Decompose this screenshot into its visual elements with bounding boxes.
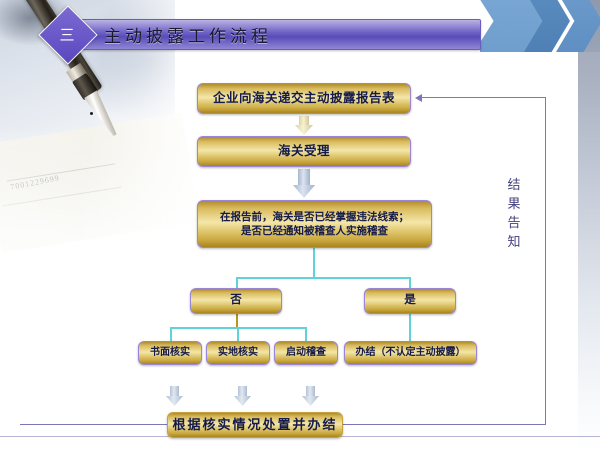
feedback-arrowhead-icon — [415, 94, 422, 102]
feedback-line-bottom — [343, 424, 545, 425]
feedback-line-right — [545, 97, 546, 425]
photo-pen-nib-dot — [90, 112, 93, 115]
flow-box-customs-acceptance[interactable]: 海关受理 — [197, 136, 411, 167]
connector-yes-to-close — [409, 314, 411, 341]
right-edge-gradient-strip — [578, 0, 600, 450]
feedback-label-char-4: 知 — [505, 233, 523, 252]
feedback-label-char-1: 结 — [505, 176, 523, 195]
arrow-onsite-to-final-icon — [234, 386, 251, 406]
page-title: 主动披露工作流程 — [104, 22, 272, 47]
connector-to-written — [170, 327, 172, 341]
arrow-submit-to-accept-icon — [295, 116, 313, 135]
decision-line-1: 在报告前，海关是否已经掌握违法线索； — [220, 210, 409, 224]
flow-box-decision[interactable]: 在报告前，海关是否已经掌握违法线索； 是否已经通知被稽查人实施稽查 — [197, 200, 432, 248]
flow-box-branch-yes[interactable]: 是 — [364, 288, 456, 314]
connector-decision-stem — [313, 248, 315, 277]
feedback-label-char-2: 果 — [505, 195, 523, 214]
flow-box-written-verification[interactable]: 书面核实 — [138, 341, 202, 365]
chevron-decoration — [480, 0, 600, 52]
slide-canvas: 7001229699 三 主动披露工作流程 结 果 告 知 — [0, 0, 600, 450]
section-number-label: 三 — [47, 14, 87, 54]
connector-to-audit — [305, 327, 307, 341]
feedback-label-char-3: 告 — [505, 214, 523, 233]
flow-box-final-disposition[interactable]: 根据核实情况处置并办结 — [167, 412, 343, 438]
connector-no-stem — [236, 314, 238, 327]
feedback-line-left-tail — [20, 424, 168, 425]
flow-box-start-audit[interactable]: 启动稽查 — [274, 341, 338, 365]
arrow-audit-to-final-icon — [302, 386, 319, 406]
flow-box-submit-report[interactable]: 企业向海关递交主动披露报告表 — [197, 83, 411, 114]
arrow-accept-to-decision-icon — [293, 169, 315, 198]
flow-box-branch-no[interactable]: 否 — [190, 288, 282, 314]
flow-box-close-not-recognized[interactable]: 办结（不认定主动披露） — [344, 341, 477, 365]
connector-branch-bar — [236, 277, 410, 279]
feedback-line-top — [422, 97, 546, 98]
flow-box-onsite-verification[interactable]: 实地核实 — [206, 341, 270, 365]
connector-to-onsite — [237, 327, 239, 341]
feedback-vertical-label: 结 果 告 知 — [505, 176, 523, 251]
arrow-written-to-final-icon — [166, 386, 183, 406]
decision-line-2: 是否已经通知被稽查人实施稽查 — [220, 224, 409, 238]
